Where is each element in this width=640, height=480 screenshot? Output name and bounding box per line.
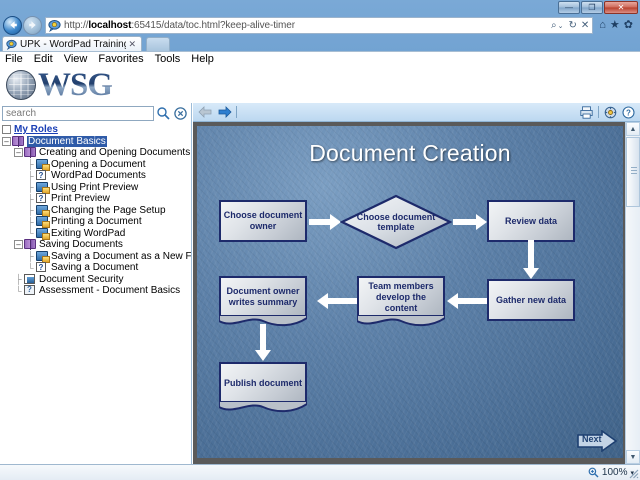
toc-tree-line: ├ — [14, 274, 23, 284]
arrow-gather-to-team — [447, 293, 487, 309]
content-back-arrow-icon[interactable] — [198, 106, 213, 118]
arrow-review-to-gather — [523, 240, 539, 280]
toc-item-label[interactable]: Opening a Document — [51, 159, 146, 170]
flowchart-title: Document Creation — [197, 140, 623, 167]
book-icon — [12, 136, 25, 147]
toc-item-label[interactable]: Document Security — [39, 274, 123, 285]
toc-item-creating-and-opening-documents[interactable]: –Creating and Opening Documents — [0, 147, 192, 159]
toc-item-label[interactable]: Saving a Document — [51, 262, 138, 273]
toc-tree-line: ├ — [26, 205, 35, 215]
toc-tree-line: ├ — [26, 217, 35, 227]
toc-item-using-print-preview[interactable]: ├Using Print Preview — [0, 182, 192, 194]
node-review-data[interactable]: Review data — [487, 200, 575, 242]
page-content: WSG My Roles –D — [0, 66, 640, 464]
tab-title: UPK - WordPad Training — [20, 39, 126, 50]
toc-tree-line: ├ — [26, 251, 35, 261]
menu-tools[interactable]: Tools — [155, 53, 181, 65]
content-stage: Document Creation Choose document owner — [193, 122, 640, 464]
toc-tree-line: └ — [26, 263, 35, 273]
node-team-label: Team members develop the content — [361, 281, 441, 314]
navigation-bar: http://localhost:65415/data/toc.html?kee… — [0, 15, 640, 35]
refresh-icon[interactable]: ↻ — [567, 20, 577, 31]
node-document-owner-writes-summary[interactable]: Document owner writes summary — [219, 276, 307, 316]
toc-expander[interactable]: – — [14, 148, 23, 157]
toc-item-saving-documents[interactable]: –Saving Documents — [0, 239, 192, 251]
browser-window: — ❐ ✕ http://localhost:65415/data/toc.ht… — [0, 0, 640, 480]
settings-gear-icon[interactable]: ✿ — [624, 20, 633, 31]
toc-item-saving-a-document-as-a-new-file[interactable]: ├Saving a Document as a New File — [0, 251, 192, 263]
zoom-level-value: 100% — [602, 467, 628, 478]
menu-bar: File Edit View Favorites Tools Help — [0, 51, 640, 66]
restore-button[interactable]: ❐ — [581, 1, 603, 14]
toc-item-label[interactable]: Print Preview — [51, 193, 110, 204]
toc-item-assessment-document-basics[interactable]: └Assessment - Document Basics — [0, 285, 192, 297]
arrow-template-to-review — [453, 214, 487, 230]
node-summary-label: Document owner writes summary — [223, 286, 303, 308]
toc-item-label[interactable]: Saving a Document as a New File — [51, 251, 192, 262]
arrow-team-to-summary — [317, 293, 357, 309]
toc-item-label[interactable]: Changing the Page Setup — [51, 205, 166, 216]
topic-screen-icon — [36, 251, 49, 262]
brand-logo-text: WSG — [38, 67, 112, 104]
clear-circle-icon[interactable] — [173, 106, 188, 121]
content-toolbar: ? — [193, 103, 640, 122]
flowchart-canvas: Document Creation Choose document owner — [197, 126, 623, 458]
blue-page-icon — [24, 274, 37, 285]
preferences-icon[interactable] — [604, 106, 617, 119]
toc-item-label[interactable]: Printing a Document — [51, 216, 142, 227]
topic-screen-icon — [36, 228, 49, 239]
print-icon[interactable] — [580, 106, 593, 119]
tab-strip: UPK - WordPad Training ✕ — [0, 35, 640, 51]
toc-tree-line: └ — [26, 228, 35, 238]
close-button[interactable]: ✕ — [604, 1, 638, 14]
menu-edit[interactable]: Edit — [34, 53, 53, 65]
scroll-up-button[interactable]: ▲ — [626, 122, 640, 136]
question-mark-icon: ? — [36, 262, 49, 273]
window-controls: — ❐ ✕ — [558, 1, 638, 14]
browser-forward-icon[interactable] — [23, 16, 42, 35]
favorites-star-icon[interactable]: ★ — [610, 20, 620, 31]
toolbar-separator-2 — [598, 106, 599, 118]
question-mark-icon: ? — [36, 193, 49, 204]
toc-my-roles-row[interactable]: My Roles — [0, 124, 192, 136]
toc-item-document-basics[interactable]: –Document Basics — [0, 136, 192, 148]
topic-screen-icon — [36, 205, 49, 216]
my-roles-checkbox[interactable] — [2, 125, 11, 134]
toc-tree-line: └ — [14, 286, 23, 296]
toc-tree-line: ├ — [26, 159, 35, 169]
node-template-label: Choose document template — [340, 212, 452, 232]
toc-item-opening-a-document[interactable]: ├Opening a Document — [0, 159, 192, 171]
next-button[interactable]: Next — [577, 430, 617, 452]
content-frame: ? Document Creation Choose document owne… — [193, 103, 640, 464]
resize-grip-icon[interactable] — [627, 467, 639, 479]
next-button-label: Next — [582, 434, 602, 444]
zoom-magnifier-icon — [588, 467, 599, 478]
minimize-button[interactable]: — — [558, 1, 580, 14]
toc-search-row — [2, 105, 190, 121]
arrow-summary-to-publish — [255, 324, 271, 362]
toc-tree: My Roles –Document Basics–Creating and O… — [0, 123, 192, 464]
menu-view[interactable]: View — [64, 53, 88, 65]
help-circle-icon[interactable]: ? — [622, 106, 635, 119]
toc-item-label[interactable]: Assessment - Document Basics — [39, 285, 180, 296]
tab-favicon-icon — [6, 39, 17, 50]
node-choose-document-template[interactable]: Choose document template — [340, 194, 452, 250]
search-input[interactable] — [2, 106, 154, 121]
toc-item-printing-a-document[interactable]: ├Printing a Document — [0, 216, 192, 228]
toc-item-wordpad-documents[interactable]: ├?WordPad Documents — [0, 170, 192, 182]
node-publish-document[interactable]: Publish document — [219, 362, 307, 402]
status-bar: 100% ▾ — [0, 464, 640, 480]
node-choose-document-owner[interactable]: Choose document owner — [219, 200, 307, 242]
home-icon[interactable]: ⌂ — [599, 20, 606, 31]
toc-tree-line: ├ — [26, 182, 35, 192]
toc-expander[interactable]: – — [2, 137, 11, 146]
globe-icon — [6, 70, 36, 100]
node-team-develop-content[interactable]: Team members develop the content — [357, 276, 445, 316]
book-icon — [24, 239, 37, 250]
toc-item-exiting-wordpad[interactable]: └Exiting WordPad — [0, 228, 192, 240]
assessment-icon — [24, 285, 37, 296]
menu-help[interactable]: Help — [191, 53, 214, 65]
node-gather-new-data[interactable]: Gather new data — [487, 279, 575, 321]
stop-icon[interactable]: ✕ — [580, 20, 590, 31]
toc-item-changing-the-page-setup[interactable]: ├Changing the Page Setup — [0, 205, 192, 217]
new-tab-button[interactable] — [146, 37, 170, 51]
topic-screen-icon — [36, 182, 49, 193]
address-url-text: http://localhost:65415/data/toc.html?kee… — [64, 20, 550, 31]
toc-item-print-preview[interactable]: ├?Print Preview — [0, 193, 192, 205]
content-scrollbar[interactable]: ▲ ▼ — [625, 122, 640, 464]
scroll-down-button[interactable]: ▼ — [626, 450, 640, 464]
toc-tree-line: ├ — [26, 171, 35, 181]
scrollbar-thumb[interactable] — [626, 137, 640, 207]
question-mark-icon: ? — [36, 170, 49, 181]
toc-panel: My Roles –Document Basics–Creating and O… — [0, 103, 192, 464]
search-dropdown-icon[interactable]: ⌕⌄ — [550, 20, 565, 31]
title-bar: — ❐ ✕ — [0, 0, 640, 15]
arrow-owner-to-template — [309, 214, 341, 230]
magnifier-icon[interactable] — [156, 106, 171, 121]
toc-item-label[interactable]: Using Print Preview — [51, 182, 138, 193]
toc-item-label[interactable]: Saving Documents — [39, 239, 123, 250]
topic-screen-icon — [36, 216, 49, 227]
menu-favorites[interactable]: Favorites — [98, 53, 143, 65]
toc-item-label[interactable]: Creating and Opening Documents — [39, 147, 190, 158]
toc-item-document-security[interactable]: ├Document Security — [0, 274, 192, 286]
tab-close-icon[interactable]: ✕ — [126, 39, 138, 50]
book-icon — [24, 147, 37, 158]
toc-item-label[interactable]: WordPad Documents — [51, 170, 146, 181]
node-publish-label: Publish document — [224, 378, 302, 389]
toc-expander[interactable]: – — [14, 240, 23, 249]
toc-tree-line: ├ — [26, 194, 35, 204]
toc-item-label[interactable]: Exiting WordPad — [51, 228, 125, 239]
toolbar-separator — [236, 106, 237, 118]
svg-text:?: ? — [626, 108, 631, 117]
brand-header: WSG — [0, 66, 640, 103]
doc-wave-bottom — [357, 315, 445, 327]
toc-item-saving-a-document[interactable]: └?Saving a Document — [0, 262, 192, 274]
content-forward-arrow-icon[interactable] — [217, 106, 232, 118]
tab-upk-wordpad-training[interactable]: UPK - WordPad Training ✕ — [2, 36, 142, 51]
menu-file[interactable]: File — [5, 53, 23, 65]
topic-screen-icon — [36, 159, 49, 170]
toc-item-label[interactable]: Document Basics — [27, 136, 107, 147]
address-bar[interactable]: http://localhost:65415/data/toc.html?kee… — [45, 17, 593, 34]
doc-wave-bottom-3 — [219, 401, 307, 413]
address-bar-icons: ⌕⌄ ↻ ✕ — [550, 20, 590, 31]
my-roles-label[interactable]: My Roles — [14, 124, 58, 135]
browser-back-icon[interactable] — [3, 16, 22, 35]
site-favicon-icon — [48, 19, 61, 32]
browser-tool-icons: ⌂ ★ ✿ — [595, 20, 637, 31]
